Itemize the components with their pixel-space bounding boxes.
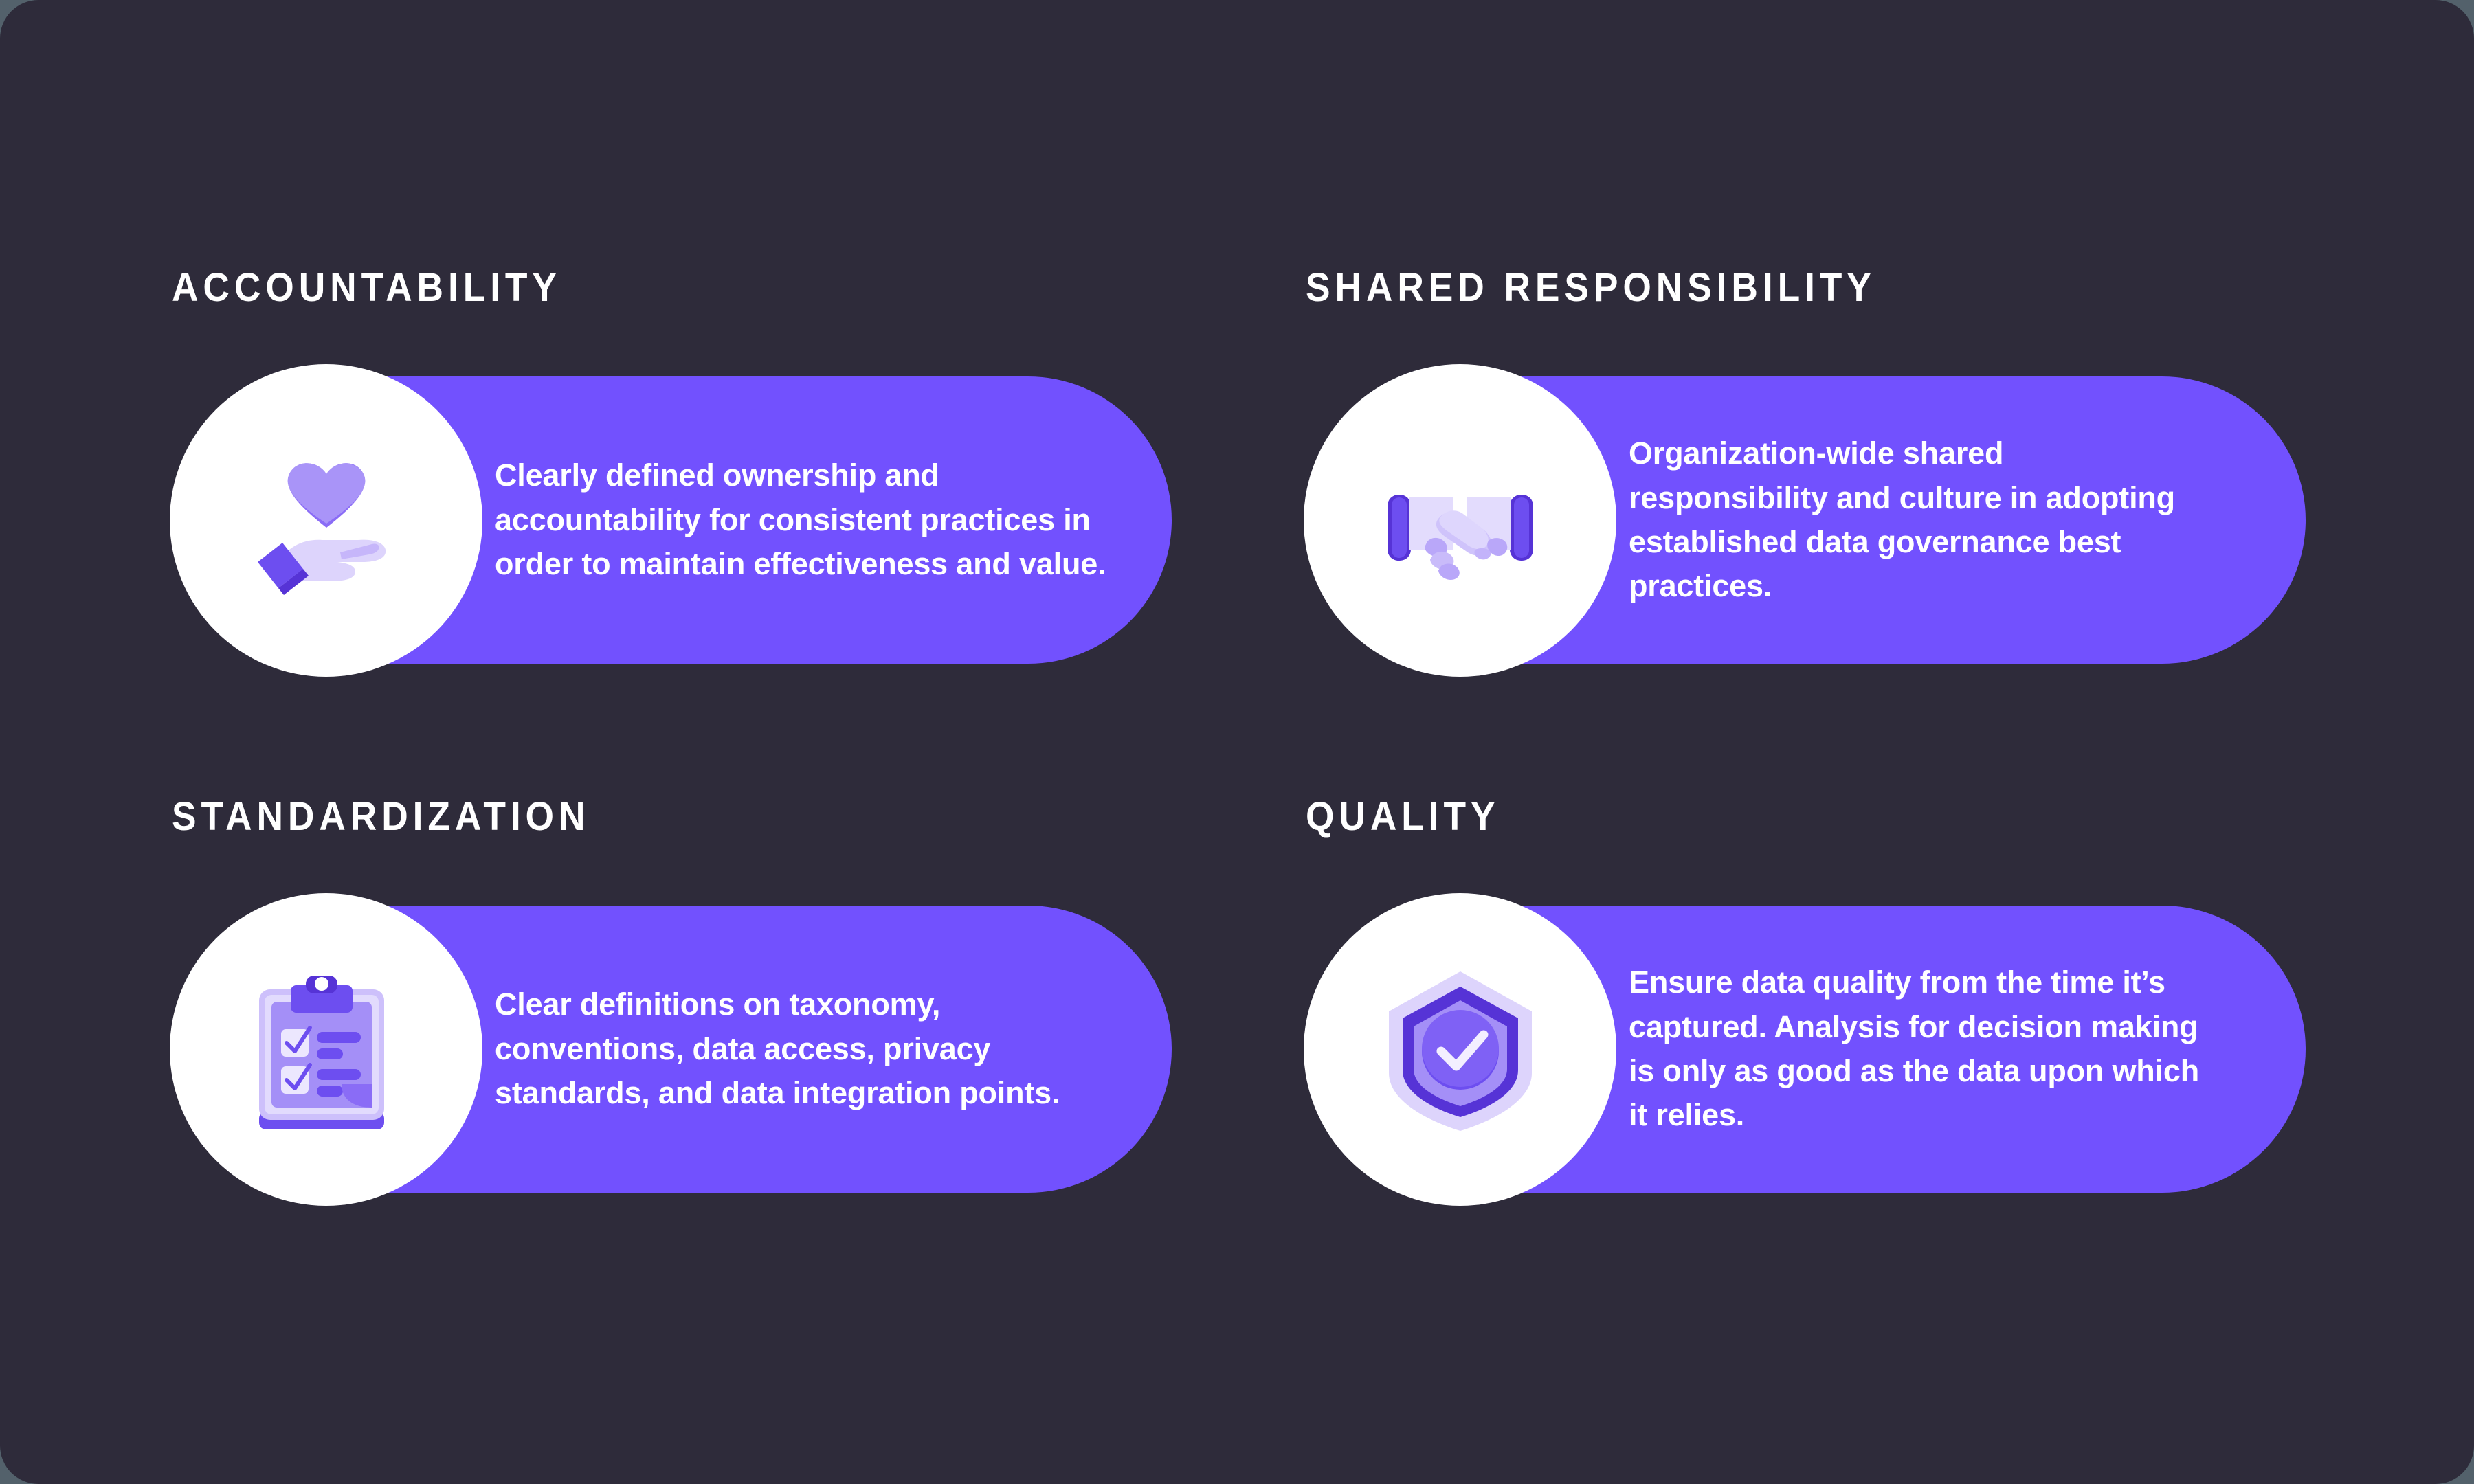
card-body: Clear definitions on taxonomy, conventio…: [495, 906, 1113, 1193]
shield-check-icon: [1377, 963, 1544, 1136]
card-heading: STANDARDIZATION: [172, 797, 590, 837]
card-body-text: Clear definitions on taxonomy, conventio…: [495, 982, 1113, 1115]
icon-badge: [1304, 364, 1616, 677]
card-heading: SHARED RESPONSIBILITY: [1306, 268, 1876, 308]
card-body: Ensure data quality from the time it’s c…: [1629, 906, 2199, 1193]
handshake-icon: [1371, 431, 1550, 610]
principles-grid: ACCOUNTABILITY: [172, 268, 2302, 1230]
card-heading: ACCOUNTABILITY: [172, 268, 561, 308]
principle-card-quality: QUALITY: [1306, 797, 2323, 1223]
principle-card-shared-responsibility: SHARED RESPONSIBILITY: [1306, 268, 2323, 694]
card-body-text: Ensure data quality from the time it’s c…: [1629, 960, 2199, 1137]
principle-card-accountability: ACCOUNTABILITY: [172, 268, 1189, 694]
card-body-text: Organization-wide shared responsibility …: [1629, 431, 2199, 608]
infographic-panel: ACCOUNTABILITY: [0, 0, 2474, 1484]
icon-badge: [170, 364, 482, 677]
icon-badge: [170, 893, 482, 1206]
clipboard-checklist-icon: [248, 966, 405, 1134]
card-body-text: Clearly defined ownership and accountabi…: [495, 453, 1113, 586]
hand-holding-heart-icon: [237, 431, 416, 610]
icon-badge: [1304, 893, 1616, 1206]
principle-card-standardization: STANDARDIZATION: [172, 797, 1189, 1223]
card-body: Clearly defined ownership and accountabi…: [495, 376, 1113, 664]
card-heading: QUALITY: [1306, 797, 1500, 837]
page-background: ACCOUNTABILITY: [0, 0, 2474, 1484]
card-body: Organization-wide shared responsibility …: [1629, 376, 2199, 664]
